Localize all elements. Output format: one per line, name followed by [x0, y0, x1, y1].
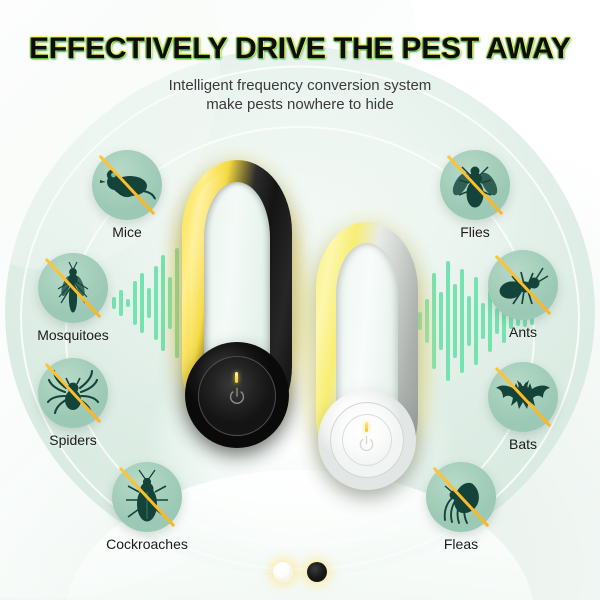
soundwave-bar: [467, 296, 471, 346]
soundwave-bar: [126, 299, 130, 307]
black-repeller-device[interactable]: [182, 160, 292, 438]
soundwave-bar: [119, 290, 123, 316]
subtitle-line-1: Intelligent frequency conversion system: [169, 77, 432, 94]
color-swatch-group: [273, 562, 327, 582]
subtitle-line-2: make pests nowhere to hide: [0, 95, 600, 114]
pest-label-mice: Mice: [112, 224, 142, 240]
pest-badge-mice[interactable]: Mice: [92, 150, 162, 220]
soundwave-bar: [161, 255, 165, 351]
soundwave-bar: [474, 277, 478, 365]
soundwave-bar: [432, 273, 436, 369]
color-swatch-white[interactable]: [273, 562, 293, 582]
pest-badge-spiders[interactable]: Spiders: [38, 358, 108, 428]
led-indicator: [235, 372, 238, 383]
pest-label-spiders: Spiders: [49, 432, 96, 448]
page-title: EFFECTIVELY DRIVE THE PEST AWAY: [0, 32, 600, 66]
soundwave-bar: [446, 261, 450, 381]
page-subtitle: Intelligent frequency conversion system …: [0, 76, 600, 114]
pest-label-fleas: Fleas: [444, 536, 478, 552]
pest-badge-cockroaches[interactable]: Cockroaches: [112, 462, 182, 532]
color-swatch-black[interactable]: [307, 562, 327, 582]
pest-badge-fleas[interactable]: Fleas: [426, 462, 496, 532]
soundwave-bar: [112, 297, 116, 309]
pest-badge-ants[interactable]: Ants: [488, 250, 558, 320]
soundwave-bar: [147, 288, 151, 318]
led-indicator: [365, 422, 368, 432]
pest-label-flies: Flies: [460, 224, 490, 240]
soundwave-bar: [154, 266, 158, 340]
pest-label-mosquitoes: Mosquitoes: [37, 327, 109, 343]
pest-label-cockroaches: Cockroaches: [106, 536, 188, 552]
soundwave-bar: [453, 284, 457, 358]
power-icon[interactable]: [356, 434, 377, 455]
pest-badge-flies[interactable]: Flies: [440, 150, 510, 220]
white-repeller-device[interactable]: [316, 222, 418, 484]
soundwave-bar: [140, 273, 144, 333]
soundwave-bar: [133, 281, 137, 325]
soundwave-bar: [460, 269, 464, 373]
soundwave-bar: [481, 303, 485, 339]
pest-label-ants: Ants: [509, 324, 537, 340]
product-infographic-poster: EFFECTIVELY DRIVE THE PEST AWAY Intellig…: [0, 0, 600, 600]
power-icon[interactable]: [226, 386, 248, 408]
pest-badge-bats[interactable]: Bats: [488, 362, 558, 432]
pest-badge-mosquitoes[interactable]: Mosquitoes: [38, 253, 108, 323]
soundwave-bar: [439, 292, 443, 350]
pest-label-bats: Bats: [509, 436, 537, 452]
